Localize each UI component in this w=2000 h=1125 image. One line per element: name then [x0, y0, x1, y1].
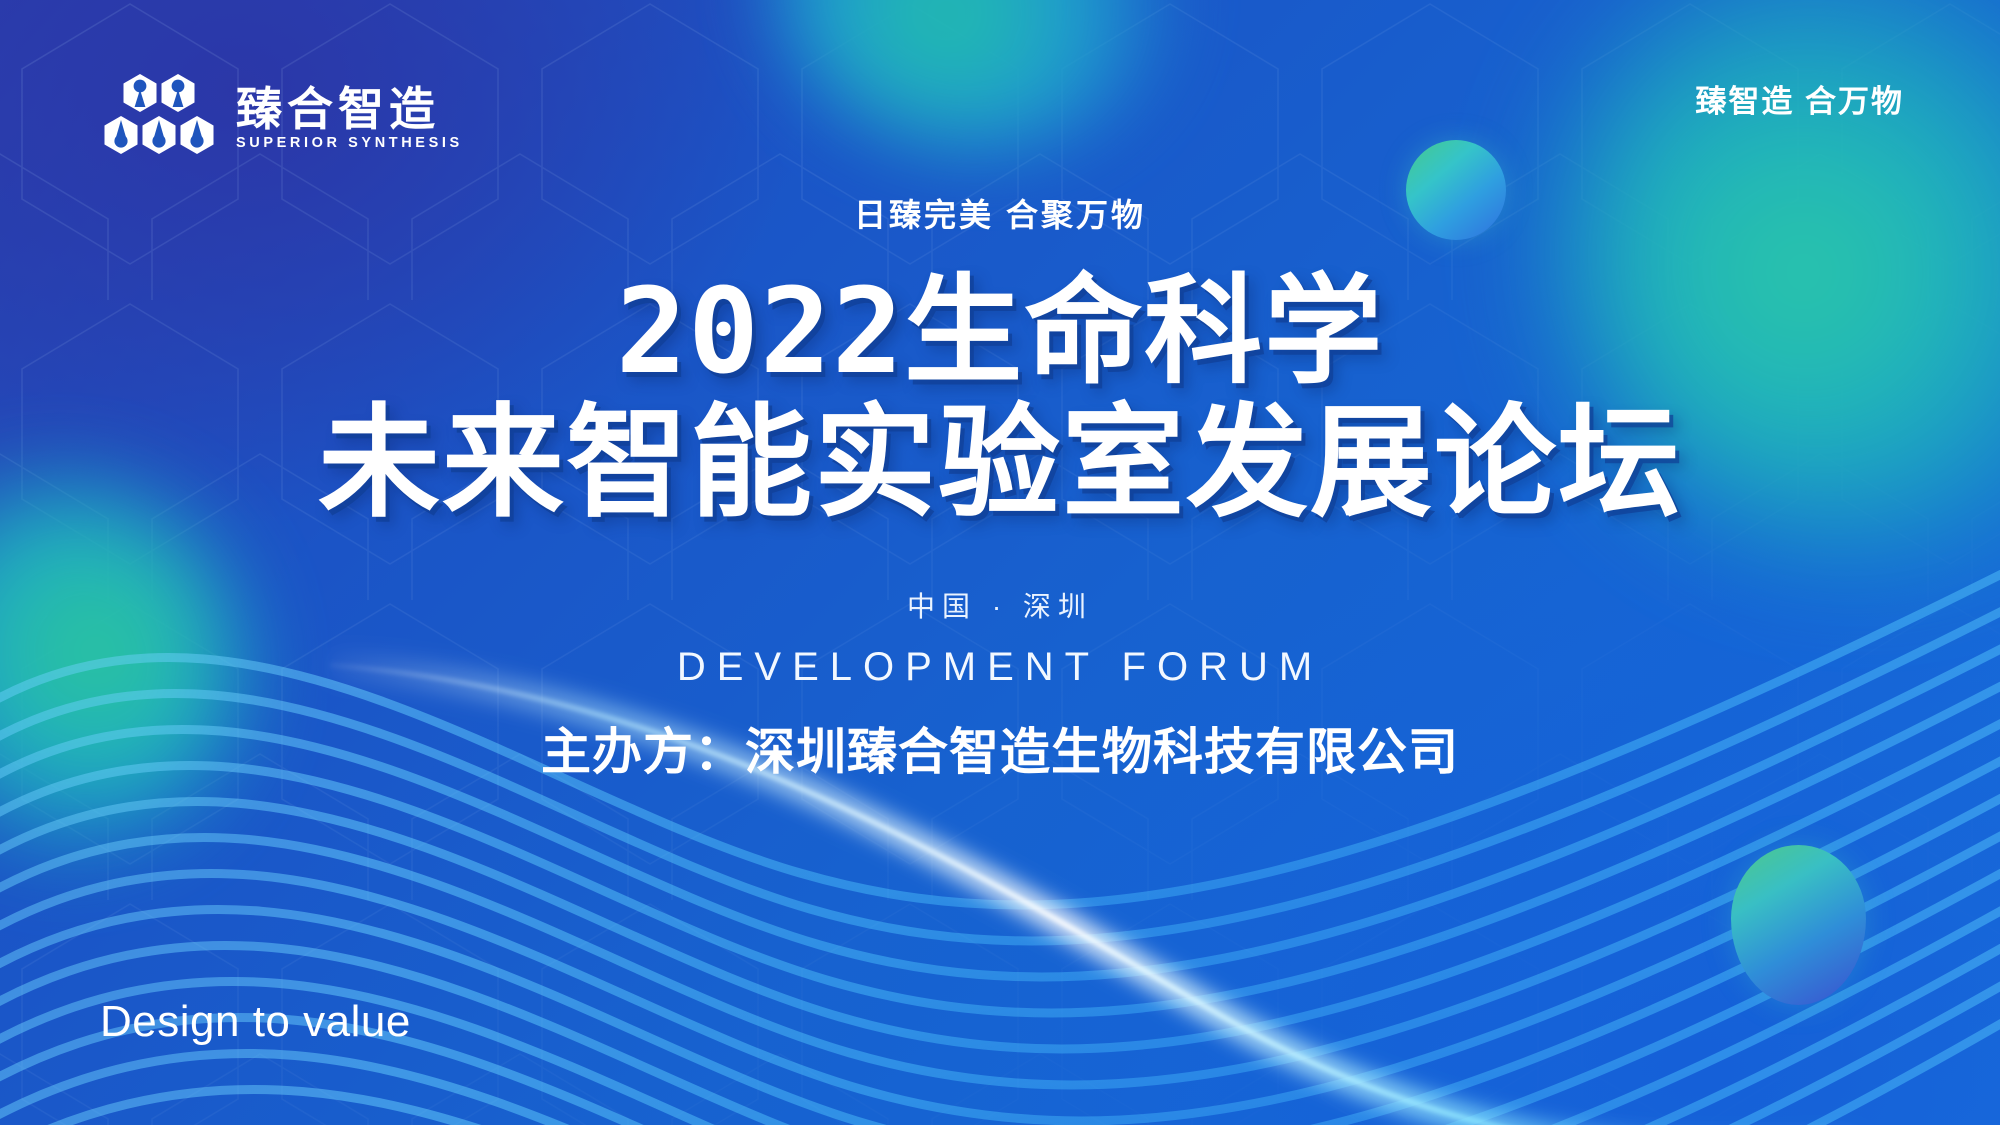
title-line1-cn: 生命科学	[904, 266, 1384, 398]
page-title-line2: 未来智能实验室发展论坛	[60, 400, 1940, 527]
page-title-line1: 2022生命科学	[60, 270, 1940, 394]
glow-blob-top-center	[770, 0, 1190, 150]
event-location: 中国 · 深圳	[60, 585, 1940, 625]
brand-logo: 臻合智造 SUPERIOR SYNTHESIS	[100, 74, 463, 162]
main-content: 日臻完美 合聚万物 2022生命科学 未来智能实验室发展论坛 中国 · 深圳 D…	[0, 190, 2000, 784]
forum-subtitle-en: DEVELOPMENT FORUM	[60, 645, 1940, 690]
host-organizer: 主办方：深圳臻合智造生物科技有限公司	[60, 712, 1940, 784]
logo-company-cn: 臻合智造	[236, 86, 463, 132]
header-tagline: 臻智造 合万物	[1695, 76, 1904, 121]
logo-wordmark: 臻合智造 SUPERIOR SYNTHESIS	[236, 86, 463, 151]
eyebrow-text: 日臻完美 合聚万物	[60, 190, 1940, 236]
title-year: 2022	[616, 262, 904, 400]
logo-company-en: SUPERIOR SYNTHESIS	[236, 136, 463, 151]
gradient-sphere-bottom-right	[1731, 845, 1866, 1005]
event-banner: 臻合智造 SUPERIOR SYNTHESIS 臻智造 合万物 日臻完美 合聚万…	[0, 0, 2000, 1125]
hexagon-honeycomb-icon	[100, 74, 220, 162]
footer-slogan: Design to value	[100, 997, 411, 1047]
